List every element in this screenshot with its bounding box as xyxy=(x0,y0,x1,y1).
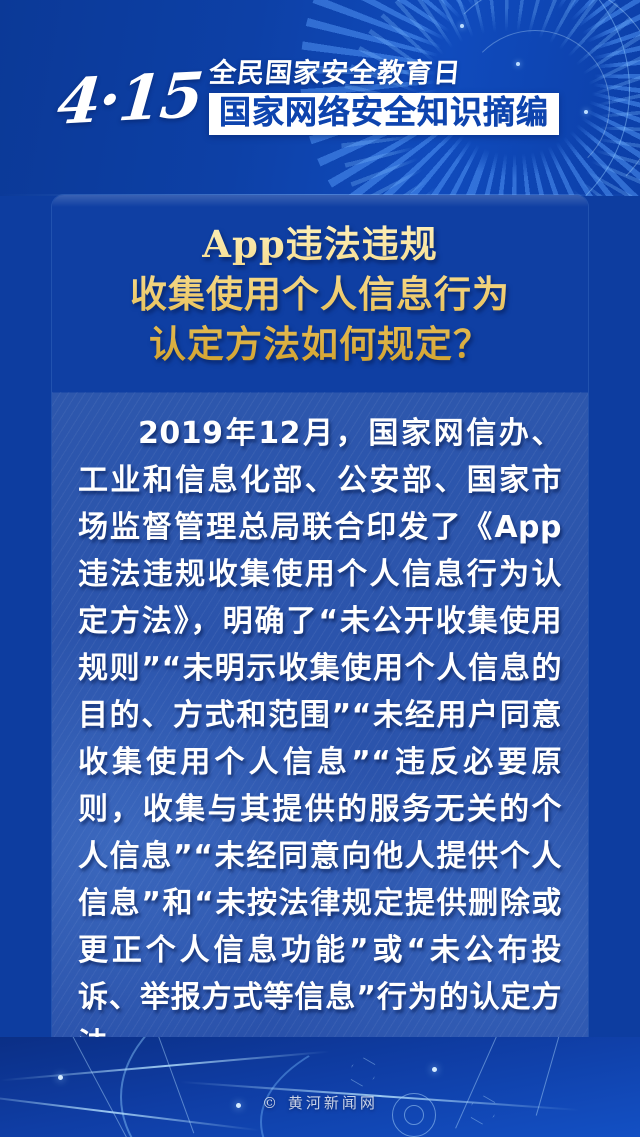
event-logo-text-group: 全民国家安全教育日 国家网络安全知识摘编 xyxy=(209,60,559,135)
source-watermark: © 黄河新闻网 xyxy=(0,1092,640,1113)
article-title-line-3: 认定方法如何规定？ xyxy=(62,320,578,370)
bottom-tech-graphic xyxy=(0,1037,640,1137)
article-title-line-1-rest: 违法违规 xyxy=(286,223,438,266)
series-title-text: 国家网络安全知识摘编 xyxy=(219,96,549,130)
header-band: 4·15 全民国家安全教育日 国家网络安全知识摘编 xyxy=(0,0,640,196)
poster-root: 4·15 全民国家安全教育日 国家网络安全知识摘编 App违法违规 收集使用个人… xyxy=(0,0,640,1137)
event-theme-line: 全民国家安全教育日 xyxy=(208,60,462,88)
article-body-text: 2019年12月，国家网信办、工业和信息化部、公安部、国家市场监督管理总局联合印… xyxy=(78,410,562,1053)
circuit-node-icon xyxy=(432,1067,437,1072)
event-date-logo: 4·15 xyxy=(55,64,204,133)
article-title-latin: App xyxy=(202,222,285,266)
series-title-banner: 国家网络安全知识摘编 xyxy=(209,93,559,135)
article-title-line-2: 收集使用个人信息行为 xyxy=(62,270,578,320)
header-node-dot-icon xyxy=(460,24,464,28)
circuit-node-icon xyxy=(58,1075,63,1080)
article-title-line-1: App违法违规 xyxy=(62,219,578,270)
article-title: App违法违规 收集使用个人信息行为 认定方法如何规定？ xyxy=(52,219,588,370)
header-node-dot-icon xyxy=(584,110,588,114)
panel-top-sheen xyxy=(52,195,588,207)
event-logo: 4·15 全民国家安全教育日 国家网络安全知识摘编 xyxy=(58,58,559,135)
content-panel: App违法违规 收集使用个人信息行为 认定方法如何规定？ 2019年12月，国家… xyxy=(52,195,588,1053)
